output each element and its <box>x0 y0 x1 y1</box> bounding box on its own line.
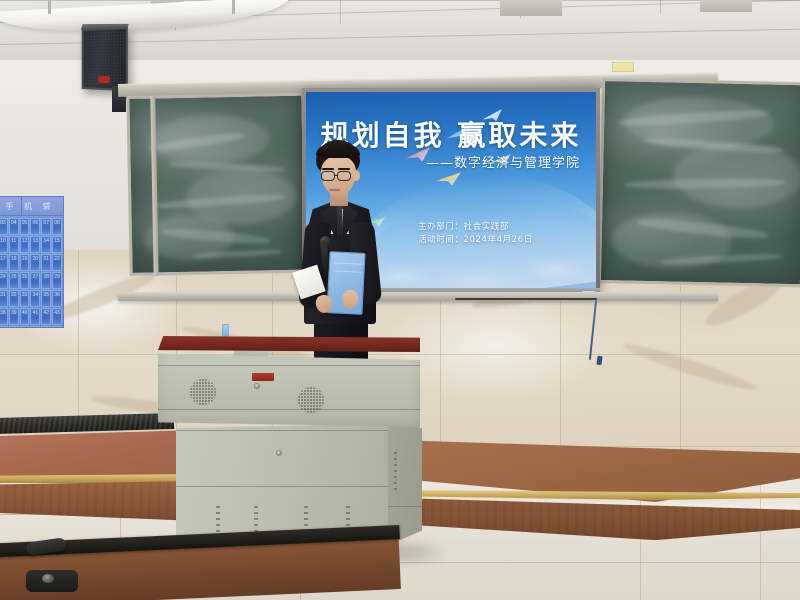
phone-pocket[interactable]: 43 <box>52 308 62 325</box>
microphone-base-ring <box>42 574 54 583</box>
phone-pocket[interactable]: 08 <box>52 218 62 235</box>
presenter-brow-left <box>322 168 334 170</box>
phone-pocket-grid[interactable]: 0304050607081011121314151718192021222425… <box>0 217 63 328</box>
phone-pocket[interactable]: 46 <box>9 326 19 328</box>
phone-pocket[interactable]: 32 <box>9 290 19 307</box>
phone-pocket[interactable]: 24 <box>0 272 8 289</box>
sticky-note <box>612 62 634 72</box>
phone-pocket[interactable]: 29 <box>52 272 62 289</box>
board-bottom-ledge <box>118 292 718 301</box>
phone-pocket[interactable]: 50 <box>52 326 62 328</box>
stage-platform-right <box>395 440 800 560</box>
ceiling-duct-2 <box>700 0 752 12</box>
drawer-lock[interactable] <box>254 383 260 389</box>
lectern-brand-logo <box>252 373 274 381</box>
lectern-control-drawer[interactable] <box>158 349 420 427</box>
cabinet-lock-lower[interactable] <box>276 450 282 456</box>
chalkboard-right <box>598 78 800 287</box>
classroom-photo-scene: 规划自我 赢取未来 ——数字经济与管理学院 主办部门：社会实践部 活动时间：20… <box>0 0 800 600</box>
ceiling-duct <box>500 0 562 16</box>
lectern-worktop <box>158 336 420 352</box>
phone-pocket[interactable]: 48 <box>30 326 40 328</box>
phone-pocket[interactable]: 18 <box>9 254 19 271</box>
phone-pocket[interactable]: 19 <box>20 254 30 271</box>
phone-pocket[interactable]: 25 <box>9 272 19 289</box>
phone-pocket[interactable]: 36 <box>52 290 62 307</box>
multimedia-lectern[interactable] <box>158 336 420 554</box>
phone-pocket[interactable]: 42 <box>41 308 51 325</box>
phone-pocket[interactable]: 45 <box>0 326 8 328</box>
phone-pocket[interactable]: 11 <box>9 236 19 253</box>
phone-pocket[interactable]: 05 <box>20 218 30 235</box>
phone-pocket[interactable]: 38 <box>0 308 8 325</box>
presenter-ear <box>353 170 360 181</box>
phone-pocket[interactable]: 35 <box>41 290 51 307</box>
slide-subtitle: ——数字经济与管理学院 <box>426 152 580 171</box>
ceiling-light-fixture <box>0 0 290 38</box>
phone-pocket-organizer[interactable]: 手 机 袋 0304050607081011121314151718192021… <box>0 196 64 328</box>
speaker-brand-badge <box>98 76 110 83</box>
phone-pocket[interactable]: 06 <box>30 218 40 235</box>
presenter <box>296 140 400 360</box>
light-hanger-right <box>232 0 235 14</box>
phone-pocket[interactable]: 14 <box>41 236 51 253</box>
presenter-brow-right <box>338 168 350 170</box>
phone-organizer-label: 手 机 袋 <box>0 197 63 216</box>
phone-pocket[interactable]: 15 <box>52 236 62 253</box>
phone-pocket[interactable]: 40 <box>20 308 30 325</box>
glasses-lens-left <box>321 171 335 181</box>
loudspeaker <box>82 27 128 91</box>
phone-pocket[interactable]: 41 <box>30 308 40 325</box>
phone-pocket[interactable]: 47 <box>20 326 30 328</box>
phone-pocket[interactable]: 31 <box>0 290 8 307</box>
phone-pocket[interactable]: 22 <box>52 254 62 271</box>
phone-pocket[interactable]: 26 <box>20 272 30 289</box>
phone-pocket[interactable]: 27 <box>30 272 40 289</box>
phone-pocket[interactable]: 49 <box>41 326 51 328</box>
phone-pocket[interactable]: 33 <box>20 290 30 307</box>
presenter-hair-fringe <box>316 142 360 158</box>
stage-right-riser <box>395 496 800 544</box>
phone-pocket[interactable]: 20 <box>30 254 40 271</box>
phone-pocket[interactable]: 28 <box>41 272 51 289</box>
slide-meta-date: 活动时间：2024年4月26日 <box>418 233 533 245</box>
phone-pocket[interactable]: 10 <box>0 236 8 253</box>
organizer-header-divider <box>21 197 22 216</box>
phone-pocket[interactable]: 12 <box>20 236 30 253</box>
lectern-speaker-right <box>298 387 324 413</box>
phone-pocket[interactable]: 34 <box>30 290 40 307</box>
phone-pocket[interactable]: 13 <box>30 236 40 253</box>
phone-pocket[interactable]: 21 <box>41 254 51 271</box>
cable-run <box>455 298 597 300</box>
presenter-mouth <box>329 189 340 191</box>
glasses-lens-right <box>337 171 351 181</box>
light-hanger-left <box>48 0 51 14</box>
phone-pocket[interactable]: 03 <box>0 218 8 235</box>
phone-pocket[interactable]: 07 <box>41 218 51 235</box>
slide-meta-department: 主办部门：社会实践部 <box>418 220 509 232</box>
phone-pocket[interactable]: 17 <box>0 254 8 271</box>
phone-pocket[interactable]: 04 <box>9 218 19 235</box>
phone-pocket[interactable]: 39 <box>9 308 19 325</box>
glasses-bridge <box>334 175 338 176</box>
lectern-speaker-left <box>190 379 216 405</box>
